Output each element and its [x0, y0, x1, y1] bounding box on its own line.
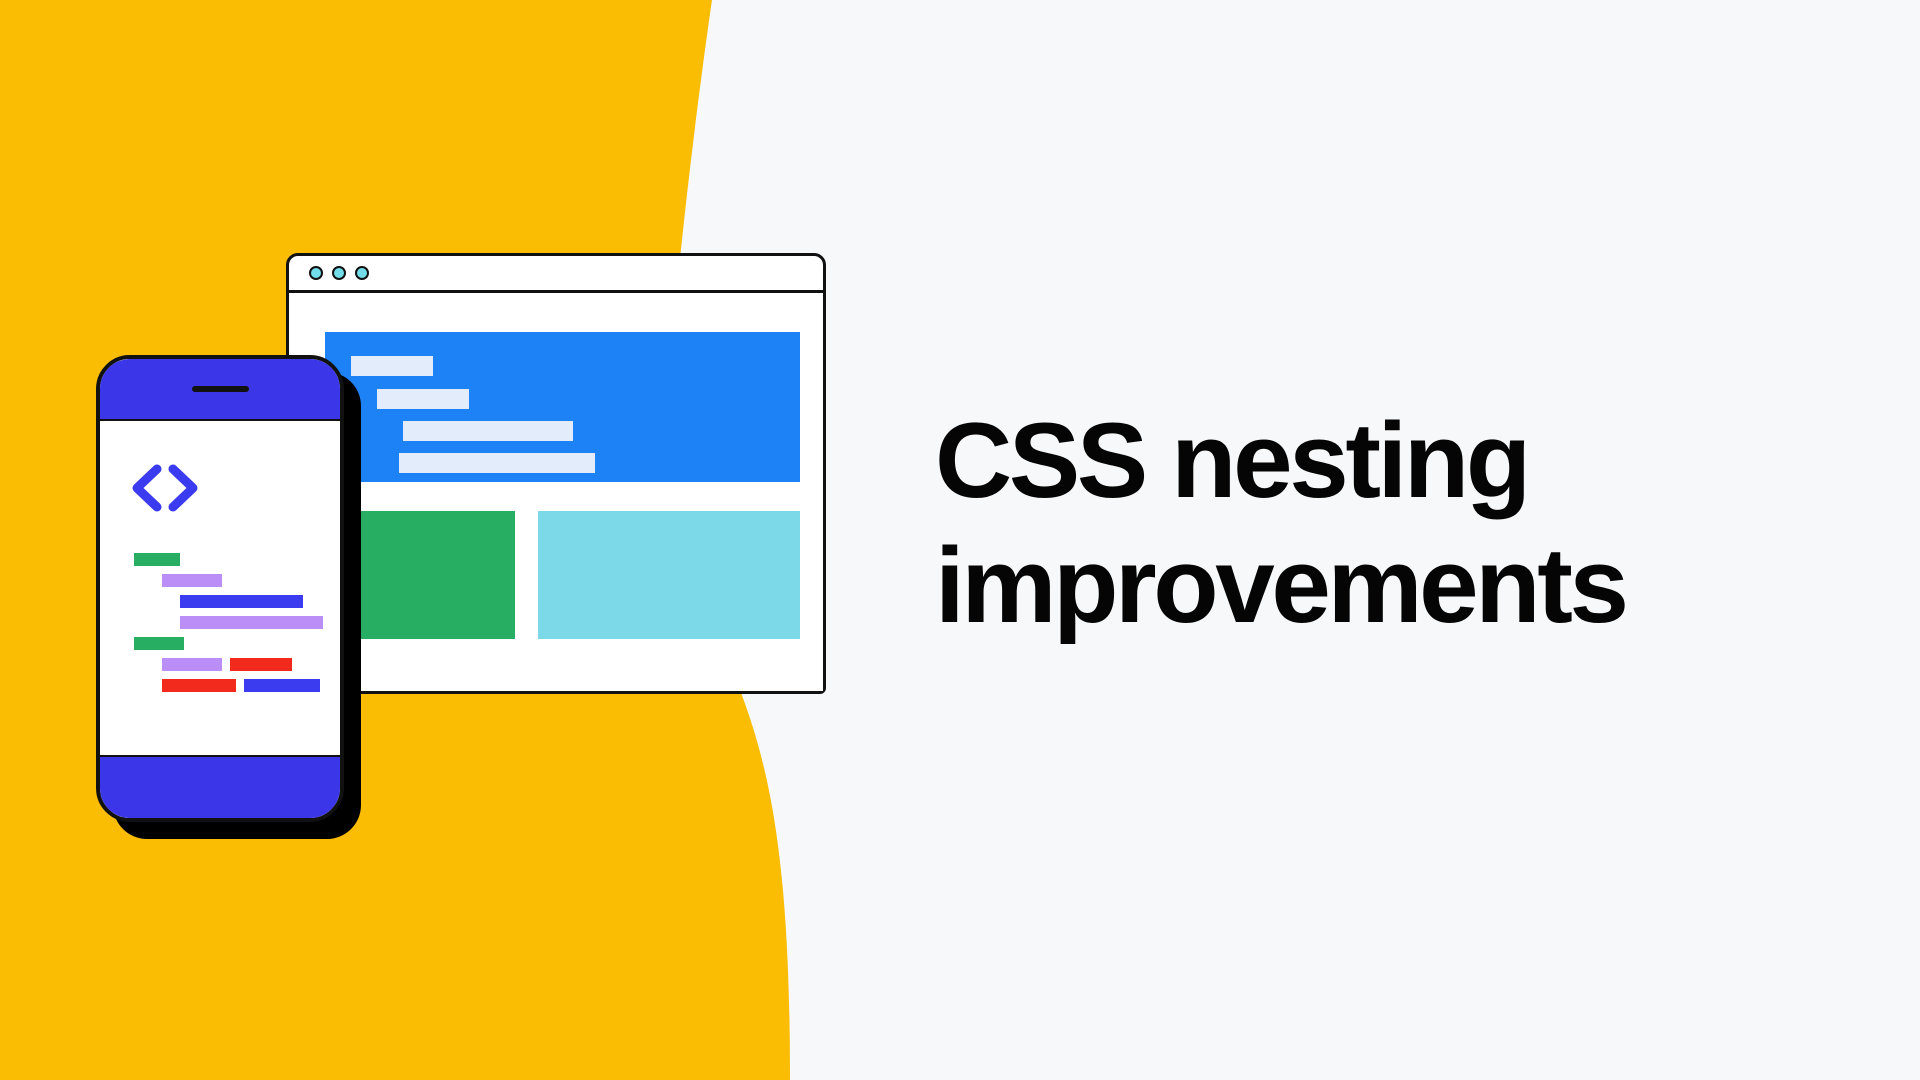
device-illustration [0, 0, 980, 1080]
code-token-bar [162, 658, 222, 671]
browser-content-area [289, 293, 823, 691]
code-token-bar [162, 679, 236, 692]
code-token-bar [180, 595, 303, 608]
phone-bottom-bezel [100, 755, 340, 818]
page-title-line-2: improvements [935, 523, 1815, 648]
code-line [100, 675, 340, 696]
code-line [100, 612, 340, 633]
window-dot-close-icon [309, 266, 323, 280]
phone-screen [100, 421, 340, 755]
code-line [100, 549, 340, 570]
phone-body [96, 355, 344, 822]
code-line [100, 633, 340, 654]
code-line [100, 570, 340, 591]
browser-titlebar [289, 256, 823, 293]
window-dot-maximize-icon [355, 266, 369, 280]
hero-placeholder-bar [351, 356, 433, 376]
code-placeholder-lines [100, 549, 340, 696]
phone-mockup [96, 355, 361, 839]
hero-placeholder-bar [403, 421, 573, 441]
page-title-line-1: CSS nesting [935, 398, 1815, 523]
hero-banner-graphic: CSS nesting improvements [0, 0, 1920, 1080]
browser-window-mockup [286, 253, 826, 694]
window-dot-minimize-icon [332, 266, 346, 280]
code-token-bar [162, 574, 222, 587]
page-hero-block [325, 332, 800, 482]
phone-top-bezel [100, 359, 340, 421]
code-token-bar [134, 553, 180, 566]
code-chevrons-icon [128, 463, 202, 513]
hero-placeholder-bar [377, 389, 469, 409]
code-token-bar [244, 679, 320, 692]
code-token-bar [134, 637, 184, 650]
hero-placeholder-bar [399, 453, 595, 473]
code-token-bar [180, 616, 323, 629]
code-line [100, 654, 340, 675]
content-tile-cyan [538, 511, 800, 639]
code-token-bar [230, 658, 292, 671]
page-title: CSS nesting improvements [935, 398, 1815, 648]
content-tile-green [335, 511, 515, 639]
phone-speaker-slot-icon [192, 386, 249, 392]
code-line [100, 591, 340, 612]
